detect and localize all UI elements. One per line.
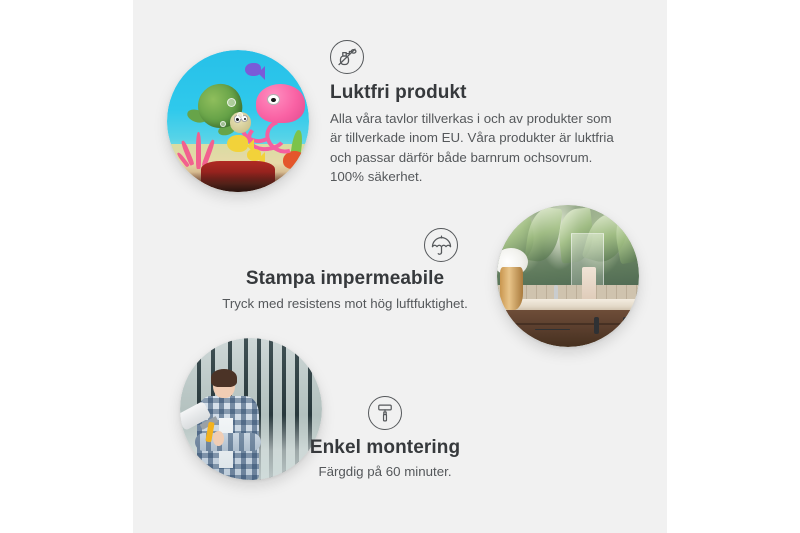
sea-shadow — [167, 172, 309, 192]
bathroom-scene — [497, 205, 639, 347]
cabinet-seam — [506, 323, 639, 325]
icon-row — [200, 228, 490, 262]
feature-block-1: Luktfri produkt Alla våra tavlor tillver… — [330, 40, 626, 186]
paint-roller-icon — [368, 396, 402, 430]
crossed-arms — [195, 433, 261, 451]
feature-body: Alla våra tavlor tillverkas i och av pro… — [330, 109, 626, 186]
hair — [211, 369, 237, 387]
no-fragrance-icon — [330, 40, 364, 74]
disc-clip — [167, 50, 309, 192]
feature-block-2: Stampa impermeabile Tryck med resistens … — [200, 228, 490, 313]
feature-title: Luktfri produkt — [330, 82, 626, 104]
fish — [227, 135, 248, 152]
door-pull — [623, 317, 628, 334]
drawer-pull — [535, 329, 570, 331]
feature-title: Stampa impermeabile — [200, 268, 490, 290]
octopus-head — [256, 84, 305, 123]
bubble — [227, 98, 236, 107]
feature-block-3: Enkel montering Färgdig på 60 minuter. — [270, 396, 500, 481]
feature-title: Enkel montering — [270, 437, 500, 459]
hand — [213, 431, 224, 445]
feature-image-bathroom-wallpaper-photo — [497, 205, 639, 347]
fish — [245, 63, 261, 76]
icon-row — [270, 396, 500, 430]
octopus-eye — [267, 94, 280, 105]
promo-graphic: Luktfri produkt Alla våra tavlor tillver… — [0, 0, 800, 533]
disc-clip — [497, 205, 639, 347]
bubble — [220, 121, 226, 127]
door-pull — [594, 317, 599, 334]
feature-image-underwater-cartoon-photo — [167, 50, 309, 192]
feature-body: Tryck med resistens mot hög luftfuktighe… — [200, 294, 490, 313]
leaf-motif — [525, 205, 564, 263]
painter-person — [189, 369, 271, 480]
feature-body: Färgdig på 60 minuter. — [270, 462, 500, 481]
vase — [500, 267, 523, 310]
vanity-cabinet — [506, 310, 639, 347]
fish — [247, 149, 261, 160]
umbrella-icon — [424, 228, 458, 262]
sea-turtle — [190, 81, 255, 141]
